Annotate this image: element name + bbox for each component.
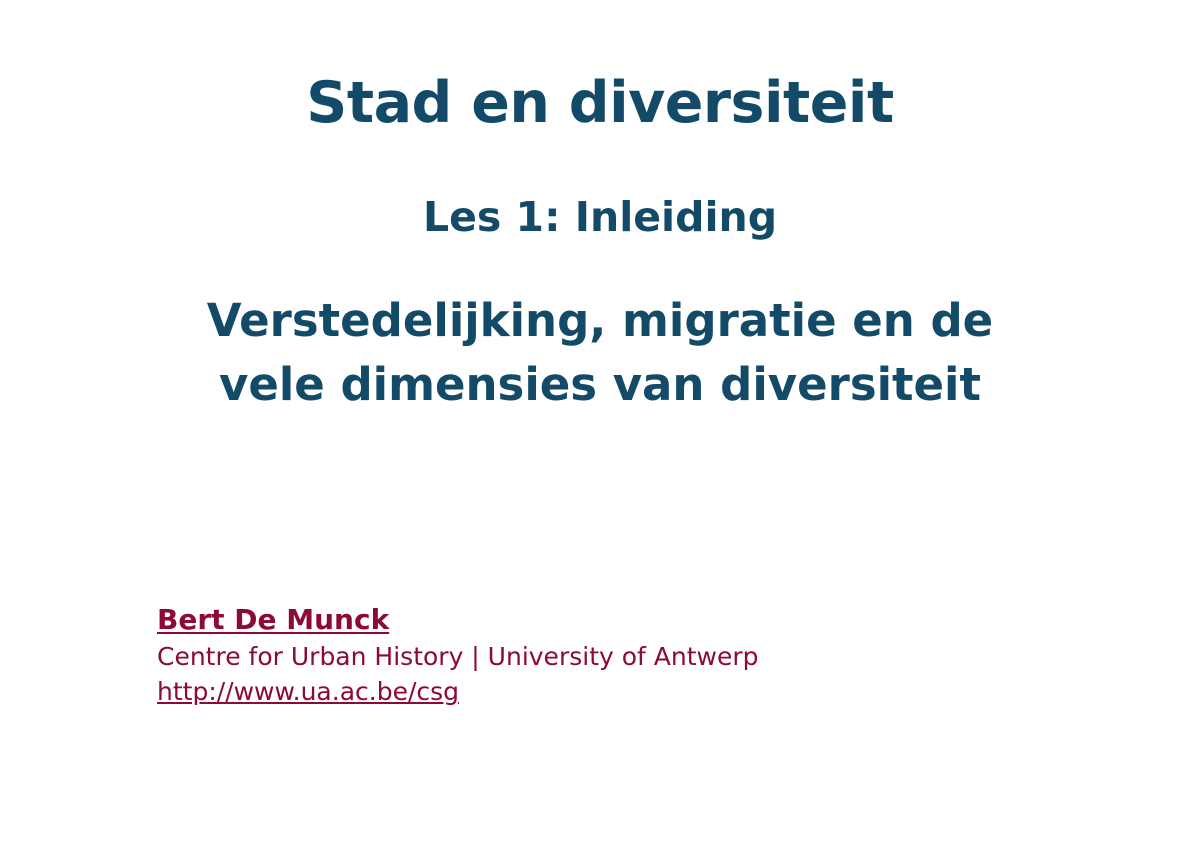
slide-lesson-title: Les 1: Inleiding <box>0 196 1200 239</box>
author-name-row: Bert De Munck <box>157 602 759 639</box>
author-block: Bert De Munck Centre for Urban History |… <box>157 602 759 710</box>
slide-subtitle: Verstedelijking, migratie en de vele dim… <box>185 289 1015 417</box>
author-url-link[interactable]: http://www.ua.ac.be/csg <box>157 674 459 710</box>
heading-spacer <box>0 134 1200 196</box>
slide-title: Stad en diversiteit <box>0 74 1200 134</box>
author-affiliation: Centre for Urban History | University of… <box>157 639 759 675</box>
slide-heading-block: Stad en diversiteit Les 1: Inleiding Ver… <box>0 74 1200 417</box>
presentation-slide: Stad en diversiteit Les 1: Inleiding Ver… <box>0 0 1200 849</box>
author-name: Bert De Munck <box>157 602 389 639</box>
heading-spacer-secondary <box>0 239 1200 289</box>
author-url-row: http://www.ua.ac.be/csg <box>157 674 759 710</box>
